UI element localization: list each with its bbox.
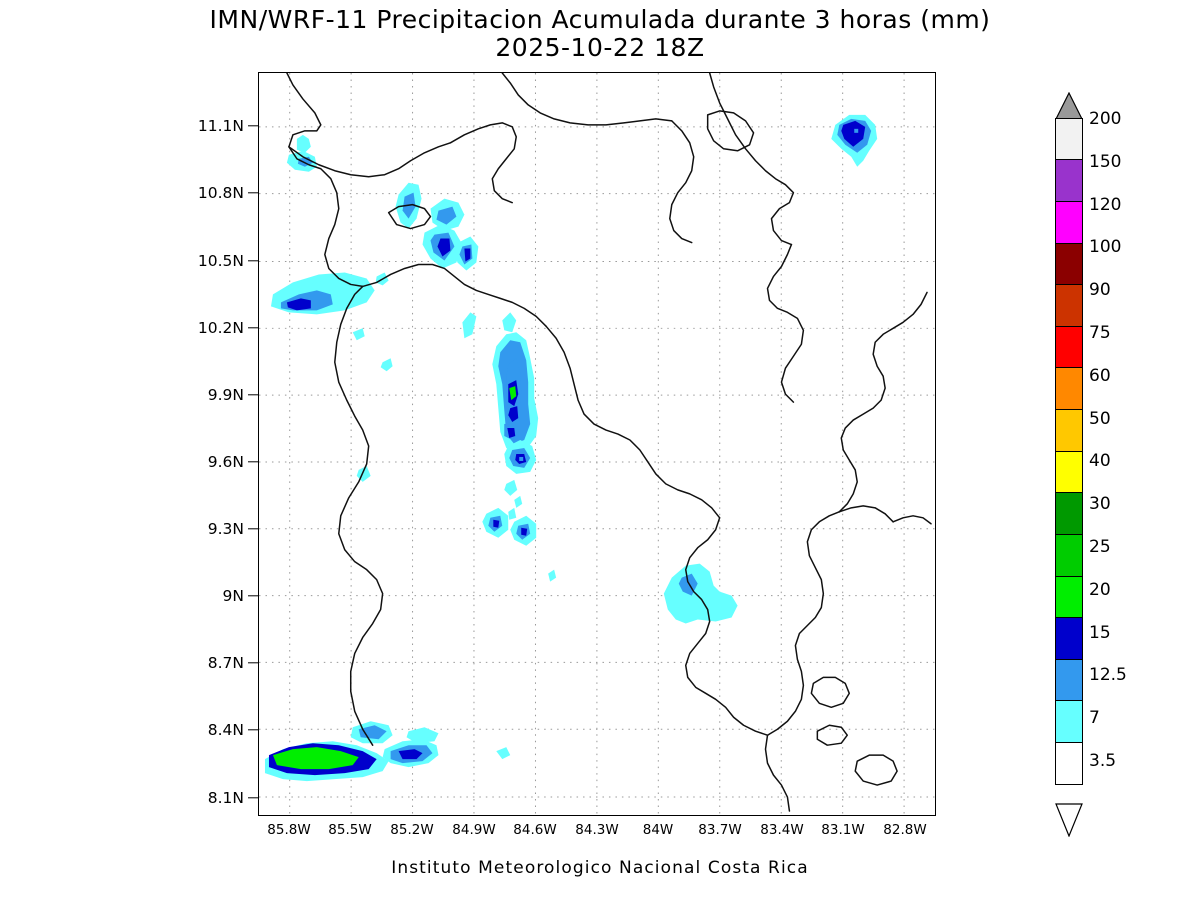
colorbar-label: 75 xyxy=(1089,323,1111,343)
xtick-label: 84.9W xyxy=(452,822,495,838)
colorbar-cell xyxy=(1055,367,1083,410)
colorbar-cell xyxy=(1055,534,1083,577)
ytick-mark xyxy=(248,260,258,261)
ytick-label: 9.9N xyxy=(184,386,244,404)
colorbar-cell xyxy=(1055,576,1083,619)
ytick-mark xyxy=(248,662,258,663)
colorbar-overflow-arrow-top xyxy=(1055,92,1083,120)
colorbar-label: 30 xyxy=(1089,494,1111,514)
ytick-label: 8.7N xyxy=(184,654,244,672)
colorbar-cell xyxy=(1055,409,1083,452)
ytick-label: 9.6N xyxy=(184,453,244,471)
ytick-label: 10.2N xyxy=(184,319,244,337)
ytick-mark xyxy=(248,125,258,126)
ytick-label: 11.1N xyxy=(184,117,244,135)
xtick-label: 85.8W xyxy=(267,822,310,838)
ytick-label: 8.1N xyxy=(184,789,244,807)
colorbar-cell xyxy=(1055,492,1083,535)
colorbar-cell xyxy=(1055,284,1083,327)
xtick-label: 84.6W xyxy=(513,822,556,838)
ytick-mark xyxy=(248,595,258,596)
colorbar-label: 200 xyxy=(1089,109,1121,129)
xtick-label: 83.7W xyxy=(698,822,741,838)
ytick-label: 10.8N xyxy=(184,184,244,202)
colorbar-label: 25 xyxy=(1089,537,1111,557)
colorbar-label: 3.5 xyxy=(1089,751,1116,771)
colorbar-label: 7 xyxy=(1089,708,1100,728)
xtick-label: 84.3W xyxy=(575,822,618,838)
xtick-label: 83.4W xyxy=(760,822,803,838)
xtick-label: 85.2W xyxy=(390,822,433,838)
colorbar-cell xyxy=(1055,243,1083,286)
colorbar-label: 60 xyxy=(1089,366,1111,386)
colorbar[interactable] xyxy=(1055,119,1083,785)
colorbar-label: 50 xyxy=(1089,409,1111,429)
colorbar-label: 90 xyxy=(1089,280,1111,300)
ytick-mark xyxy=(248,528,258,529)
xtick-label: 82.8W xyxy=(883,822,926,838)
ytick-mark xyxy=(248,461,258,462)
xtick-label: 83.1W xyxy=(821,822,864,838)
colorbar-label: 150 xyxy=(1089,152,1121,172)
colorbar-cell xyxy=(1055,659,1083,702)
ytick-label: 9.3N xyxy=(184,520,244,538)
colorbar-cell xyxy=(1055,700,1083,743)
ytick-mark xyxy=(248,192,258,193)
xtick-label: 84W xyxy=(643,822,674,838)
colorbar-label: 40 xyxy=(1089,451,1111,471)
colorbar-label: 120 xyxy=(1089,195,1121,215)
colorbar-cell xyxy=(1055,451,1083,494)
axis-labels-layer: 11.1N 10.8N 10.5N 10.2N 9.9N 9.6N 9.3N 9… xyxy=(0,0,1200,900)
ytick-mark xyxy=(248,327,258,328)
colorbar-label: 100 xyxy=(1089,237,1121,257)
colorbar-cell xyxy=(1055,201,1083,244)
ytick-label: 8.4N xyxy=(184,721,244,739)
ytick-mark xyxy=(248,394,258,395)
colorbar-label: 15 xyxy=(1089,623,1111,643)
ytick-label: 10.5N xyxy=(184,252,244,270)
xtick-label: 85.5W xyxy=(328,822,371,838)
colorbar-label: 12.5 xyxy=(1089,665,1127,685)
ytick-mark xyxy=(248,797,258,798)
colorbar-label: 20 xyxy=(1089,580,1111,600)
colorbar-cell xyxy=(1055,159,1083,202)
ytick-mark xyxy=(248,729,258,730)
colorbar-cell xyxy=(1055,326,1083,369)
colorbar-cell xyxy=(1055,617,1083,660)
ytick-label: 9N xyxy=(184,587,244,605)
colorbar-cell xyxy=(1055,118,1083,161)
source-caption: Instituto Meteorologico Nacional Costa R… xyxy=(0,858,1200,878)
colorbar-overflow-arrow-bottom xyxy=(1055,803,1083,837)
colorbar-cell xyxy=(1055,742,1083,785)
